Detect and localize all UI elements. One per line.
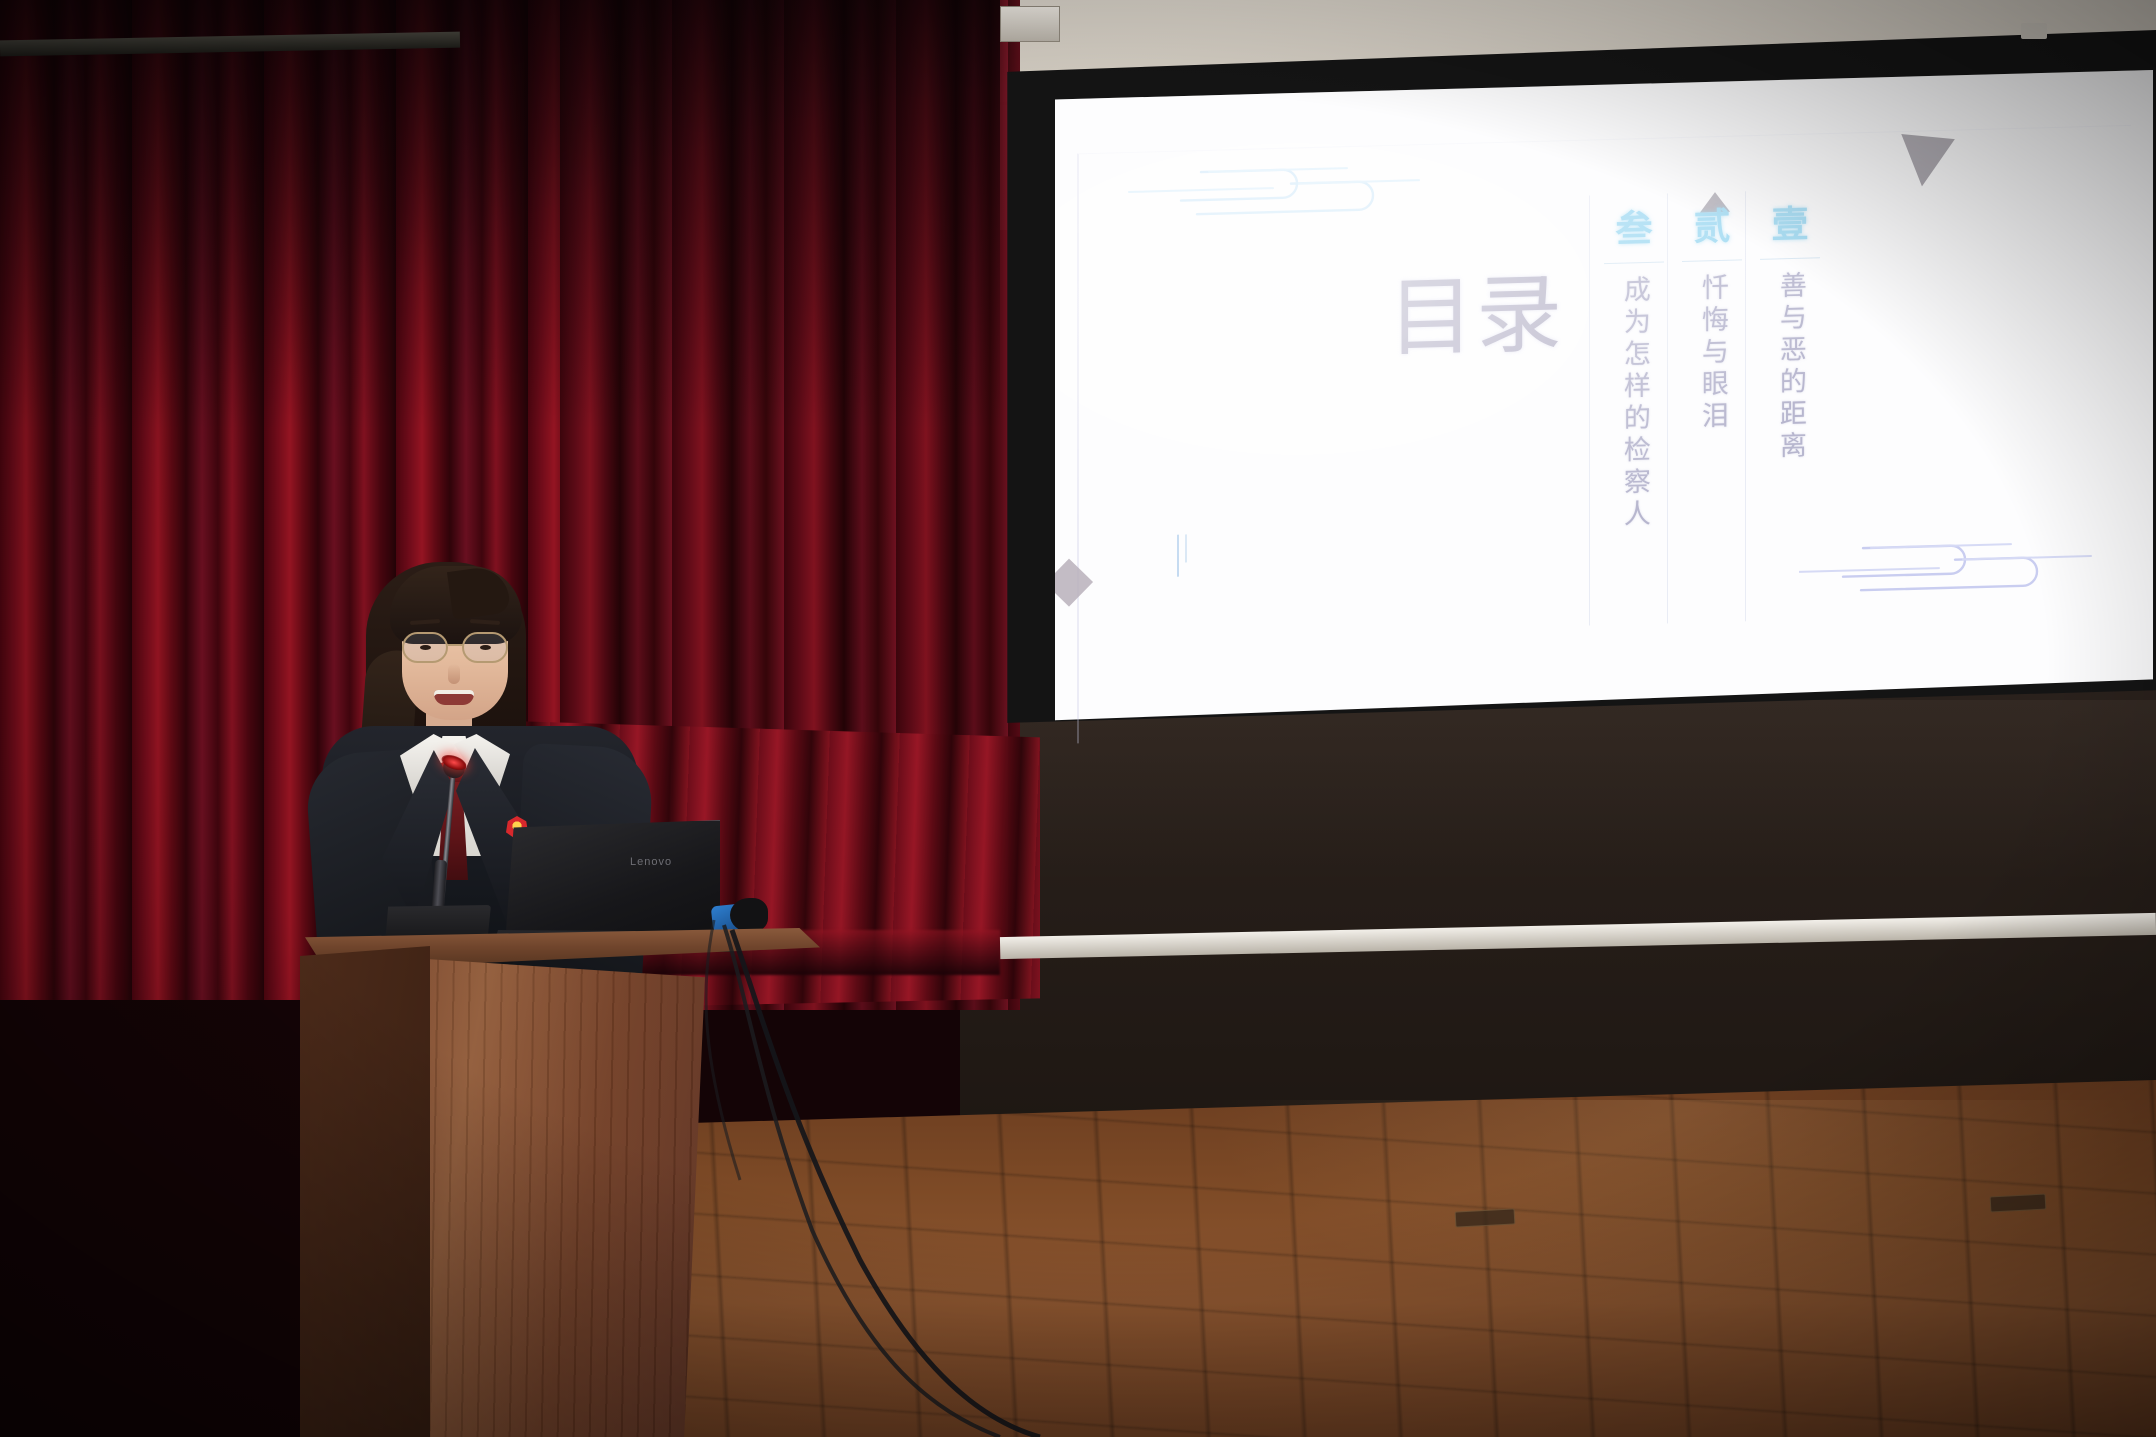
toc-item-1: 壹 善与恶的距离 [1751, 189, 1829, 528]
toc-label: 成为怎样的检察人 [1612, 275, 1656, 532]
eye-left [420, 645, 431, 650]
podium-side-panel [300, 946, 430, 1437]
toc-item-3: 叁 成为怎样的检察人 [1595, 193, 1673, 532]
toc-number: 叁 [1604, 194, 1664, 265]
bracket-plate [2021, 23, 2047, 39]
slide-toc-list: 壹 善与恶的距离 贰 忏悔与眼泪 叁 成为怎样的检察人 [1595, 189, 1829, 532]
toc-divider-3 [1589, 196, 1590, 626]
laptop [505, 820, 720, 945]
curtain-shadow [0, 0, 1000, 430]
toc-number: 壹 [1760, 189, 1820, 260]
toc-item-2: 贰 忏悔与眼泪 [1673, 191, 1751, 530]
toc-number: 贰 [1682, 191, 1742, 262]
floor-vent-2 [1990, 1194, 2047, 1213]
mouth [434, 690, 474, 705]
black-device-on-podium [730, 898, 768, 932]
nose [448, 664, 460, 684]
floor-vent-1 [1455, 1208, 1516, 1227]
accent-tick-1 [1177, 535, 1179, 577]
laptop-brand-label: Lenovo [630, 856, 672, 868]
glasses-icon [400, 632, 516, 664]
glasses-bridge [448, 644, 464, 646]
accent-tick-2 [1185, 534, 1187, 562]
cloud-ornament-bottom-icon [1799, 508, 2099, 626]
slide-content: 目录 壹 善与恶的距离 贰 忏悔与眼泪 叁 成为怎样的检察人 [1055, 40, 2153, 770]
eye-right [480, 645, 491, 650]
triangle-down-icon [1895, 134, 1955, 189]
hair-part [447, 564, 511, 620]
slide-title: 目录 [1388, 269, 1564, 365]
toc-label: 忏悔与眼泪 [1690, 273, 1734, 434]
auditorium-scene: 目录 壹 善与恶的距离 贰 忏悔与眼泪 叁 成为怎样的检察人 [0, 0, 2156, 1437]
screen-mount-bracket [1000, 6, 1060, 42]
toc-label: 善与恶的距离 [1768, 271, 1812, 464]
podium-wood-grain [405, 958, 705, 1437]
cloud-ornament-top-icon [1123, 130, 1423, 248]
